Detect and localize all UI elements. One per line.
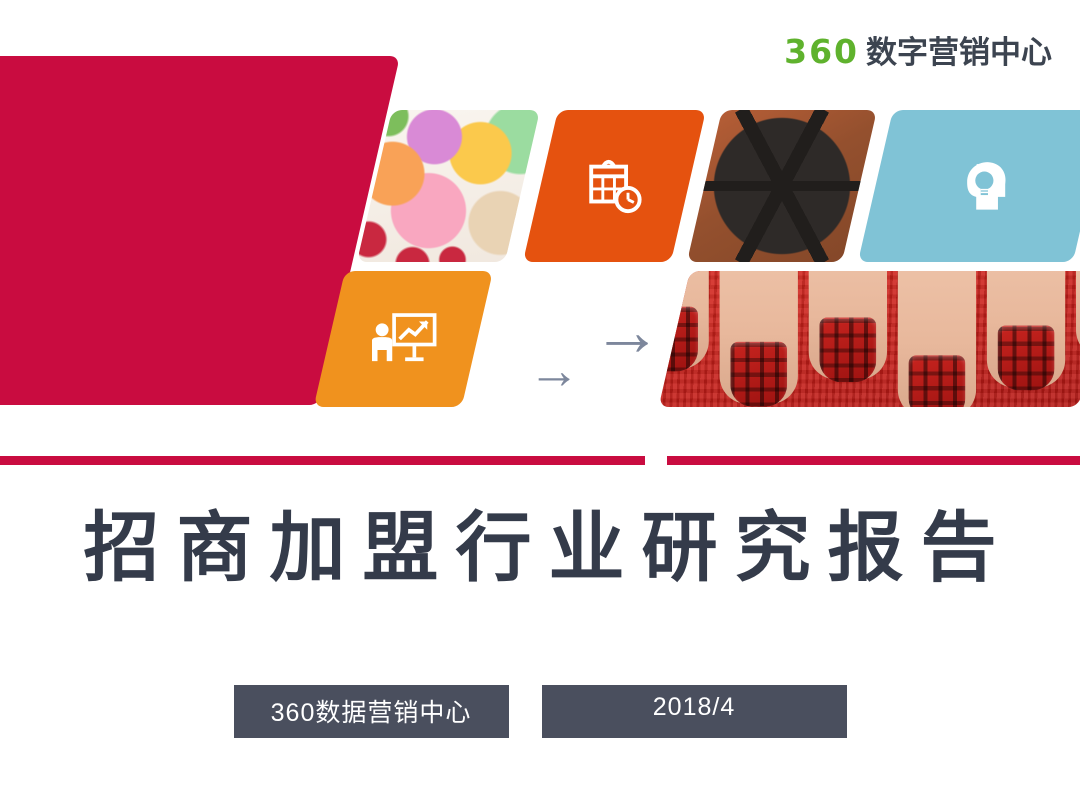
nail-art-photo bbox=[659, 271, 1080, 407]
tile-presentation-icon bbox=[314, 271, 493, 407]
arrow-right-small-icon: → bbox=[528, 345, 580, 397]
presentation-chart-icon bbox=[329, 271, 477, 407]
divider-segment-left bbox=[0, 456, 645, 465]
title-block: 招商加盟行业研究报告 bbox=[0, 500, 1080, 595]
badge-row: 360数据营销中心 2018/4 bbox=[0, 685, 1080, 738]
tile-calendar-icon bbox=[523, 110, 706, 262]
divider-segment-right bbox=[667, 456, 1080, 465]
arrow-right-large-icon: → bbox=[592, 296, 662, 366]
page-title: 招商加盟行业研究报告 bbox=[0, 500, 1080, 595]
calendar-clock-icon bbox=[540, 110, 688, 262]
head-lightbulb-icon bbox=[875, 110, 1080, 262]
tile-idea-icon bbox=[858, 110, 1080, 262]
hero-collage: → → bbox=[0, 0, 1080, 430]
tile-nail-art-photo bbox=[659, 271, 1080, 407]
ice-cream-scoops-photo bbox=[357, 110, 540, 262]
date-badge: 2018/4 bbox=[542, 685, 847, 738]
tile-ice-cream-photo bbox=[357, 110, 540, 262]
section-divider bbox=[0, 456, 1080, 465]
organization-badge: 360数据营销中心 bbox=[234, 685, 509, 738]
chinese-hotpot-photo bbox=[687, 110, 877, 262]
tile-hotpot-photo bbox=[687, 110, 877, 262]
